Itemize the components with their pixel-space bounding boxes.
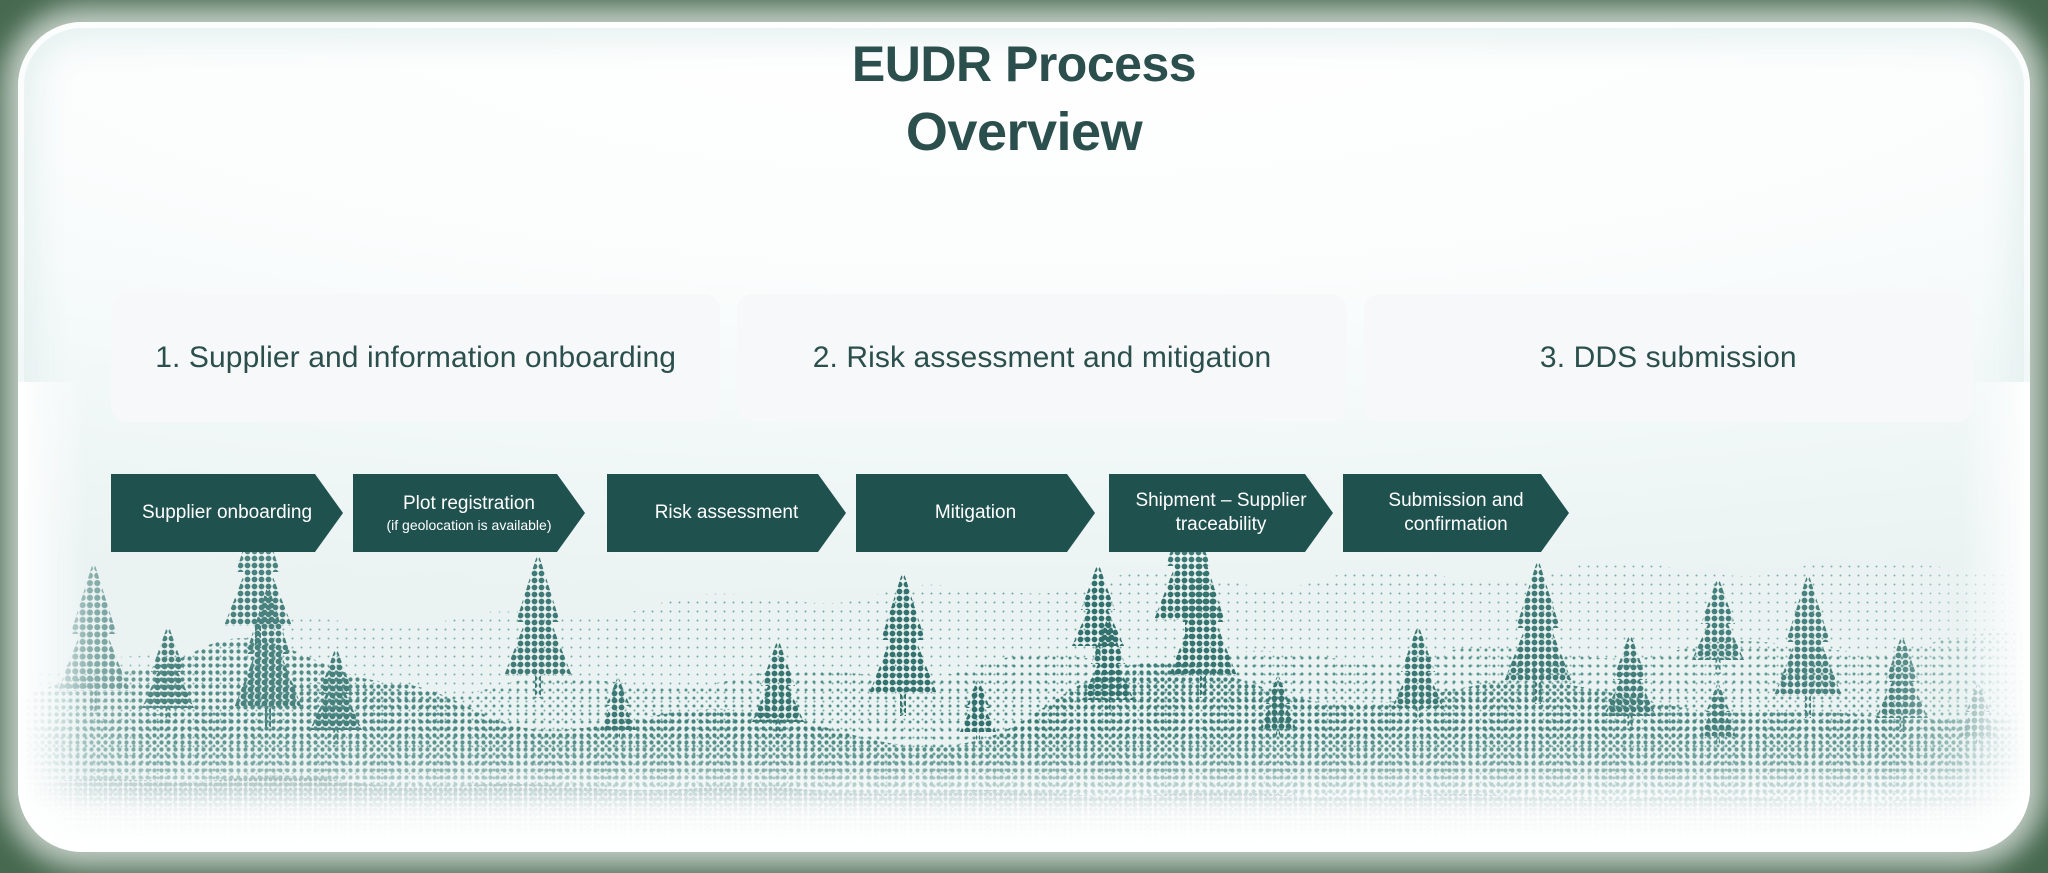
process-step-label-2: Plot registration bbox=[403, 492, 535, 516]
content-card: EUDR Process Overview 1. Supplier and in… bbox=[18, 22, 2030, 852]
page-title-line-2: Overview bbox=[18, 98, 2030, 166]
process-step-label-4: Mitigation bbox=[935, 501, 1016, 525]
process-step-shipment-supplier-traceability[interactable]: Shipment – Supplier traceability bbox=[1109, 474, 1333, 552]
page-title-line-1: EUDR Process bbox=[18, 30, 2030, 98]
process-step-mitigation[interactable]: Mitigation bbox=[856, 474, 1095, 552]
process-step-risk-assessment[interactable]: Risk assessment bbox=[607, 474, 846, 552]
process-step-label-1: Supplier onboarding bbox=[142, 501, 312, 525]
phase-label-2: 2. Risk assessment and mitigation bbox=[813, 337, 1272, 379]
page-title: EUDR Process Overview bbox=[18, 30, 2030, 166]
process-step-label-6: Submission and confirmation bbox=[1388, 489, 1523, 537]
phase-box-1[interactable]: 1. Supplier and information onboarding bbox=[111, 294, 720, 422]
phase-box-2[interactable]: 2. Risk assessment and mitigation bbox=[737, 294, 1346, 422]
process-step-label-3: Risk assessment bbox=[655, 501, 799, 525]
page-background: EUDR Process Overview 1. Supplier and in… bbox=[0, 0, 2048, 873]
halftone-forest-illustration bbox=[18, 382, 2030, 852]
phase-box-3[interactable]: 3. DDS submission bbox=[1364, 294, 1973, 422]
phase-label-1: 1. Supplier and information onboarding bbox=[155, 337, 676, 379]
process-step-plot-registration[interactable]: Plot registration (if geolocation is ava… bbox=[353, 474, 585, 552]
process-step-sublabel-2: (if geolocation is available) bbox=[387, 516, 552, 534]
process-step-label-5: Shipment – Supplier traceability bbox=[1135, 489, 1306, 537]
phase-label-3: 3. DDS submission bbox=[1540, 337, 1797, 379]
process-step-row: Supplier onboarding Plot registration (i… bbox=[111, 474, 1991, 552]
phase-header-row: 1. Supplier and information onboarding 2… bbox=[111, 294, 1973, 422]
process-step-supplier-onboarding[interactable]: Supplier onboarding bbox=[111, 474, 343, 552]
process-step-submission-and-confirmation[interactable]: Submission and confirmation bbox=[1343, 474, 1569, 552]
